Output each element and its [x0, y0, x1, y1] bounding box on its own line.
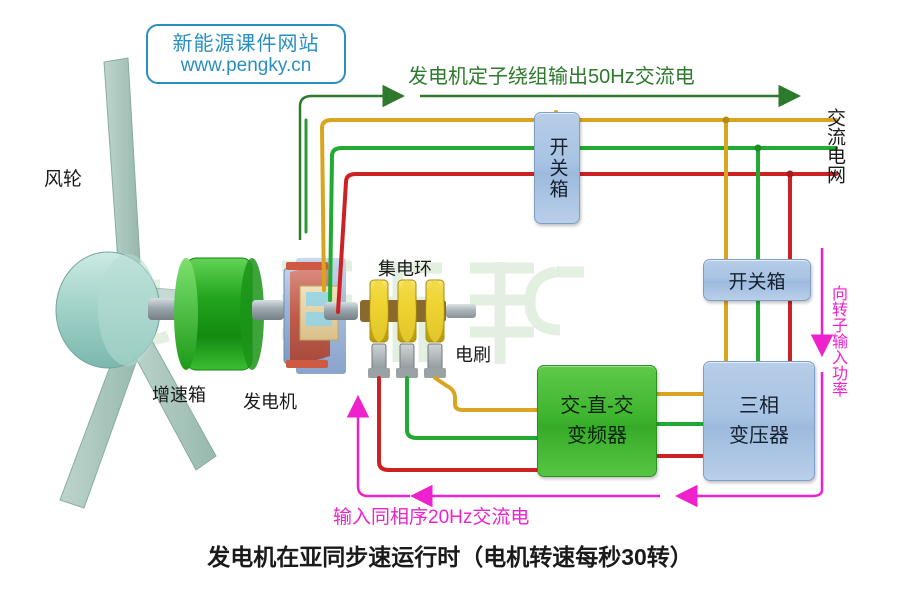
- wind-rotor-label: 风轮: [44, 164, 82, 191]
- ac-grid-label: 交流电网: [823, 108, 846, 184]
- converter-label-line2: 变频器: [567, 425, 627, 447]
- rotor-input-frequency-label: 输入同相序20Hz交流电: [333, 502, 529, 529]
- diagram-canvas: 新能源课件网站 www.pengky.cn 开关箱 开关箱 交-直-交 变频器 …: [0, 0, 900, 600]
- brush-label: 电刷: [455, 341, 491, 367]
- generator-label: 发电机: [243, 388, 297, 414]
- converter-label-line1: 交-直-交: [560, 395, 633, 417]
- logo-title: 新能源课件网站: [173, 33, 320, 55]
- slip-ring-label: 集电环: [378, 255, 432, 281]
- site-logo: 新能源课件网站 www.pengky.cn: [146, 24, 346, 84]
- transformer-label-line2: 变压器: [729, 425, 789, 447]
- frequency-converter-box: 交-直-交 变频器: [537, 365, 657, 477]
- switch-box-upper: 开关箱: [534, 112, 580, 224]
- transformer-label-line1: 三相: [739, 395, 779, 417]
- logo-url: www.pengky.cn: [181, 55, 312, 76]
- switch-box-upper-label: 开关箱: [542, 137, 573, 200]
- figure-caption: 发电机在亚同步速运行时（电机转速每秒30转）: [0, 538, 900, 572]
- gearbox-label: 增速箱: [152, 381, 206, 407]
- switch-box-lower: 开关箱: [703, 259, 811, 301]
- rotor-power-input-label: 向转子输入功率: [828, 285, 847, 397]
- three-phase-transformer-box: 三相 变压器: [703, 361, 815, 481]
- stator-output-label: 发电机定子绕组输出50Hz交流电: [408, 60, 695, 89]
- switch-box-lower-label: 开关箱: [726, 267, 787, 294]
